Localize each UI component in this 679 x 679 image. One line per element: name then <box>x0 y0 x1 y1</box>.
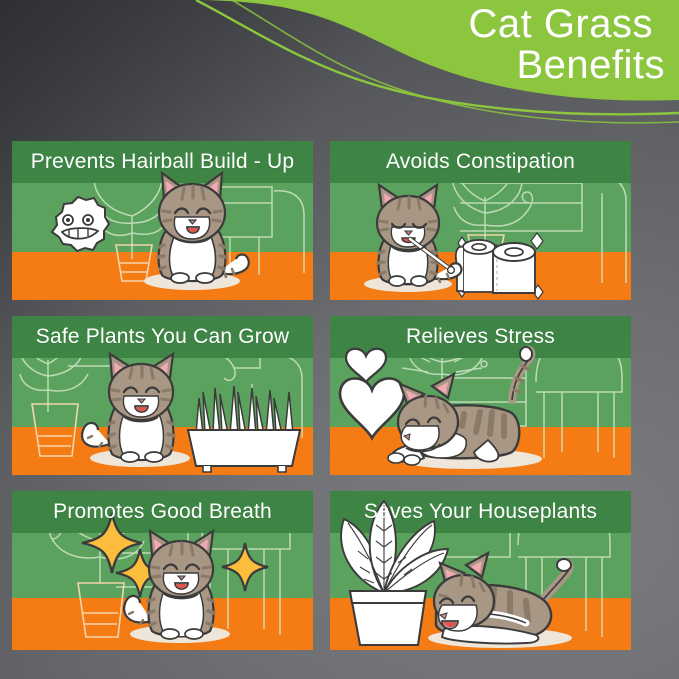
panel-saves-your-houseplants[interactable]: Saves Your Houseplants <box>330 491 631 650</box>
header-swoosh-icon <box>0 0 679 136</box>
panel-title: Promotes Good Breath <box>12 491 313 533</box>
panel-safe-plants-you-can-grow[interactable]: Safe Plants You Can Grow <box>12 316 313 475</box>
heart-icon <box>340 349 404 438</box>
panel-prevents-hairball-build-up[interactable]: Prevents Hairball Build - Up <box>12 141 313 300</box>
grass-planter-icon <box>188 386 300 472</box>
panel-title: Avoids Constipation <box>330 141 631 183</box>
panel-relieves-stress[interactable]: Relieves Stress <box>330 316 631 475</box>
toilet-paper-roll-icon <box>456 240 535 293</box>
panel-promotes-good-breath[interactable]: Promotes Good Breath <box>12 491 313 650</box>
hairball-icon <box>52 197 109 251</box>
panel-title: Safe Plants You Can Grow <box>12 316 313 358</box>
header-banner: Cat Grass Benefits <box>0 0 679 136</box>
panel-avoids-constipation[interactable]: Avoids Constipation <box>330 141 631 300</box>
panel-title: Relieves Stress <box>330 316 631 358</box>
panel-title: Prevents Hairball Build - Up <box>12 141 313 183</box>
benefits-grid: Prevents Hairball Build - Up <box>12 141 667 668</box>
panel-title: Saves Your Houseplants <box>330 491 631 533</box>
